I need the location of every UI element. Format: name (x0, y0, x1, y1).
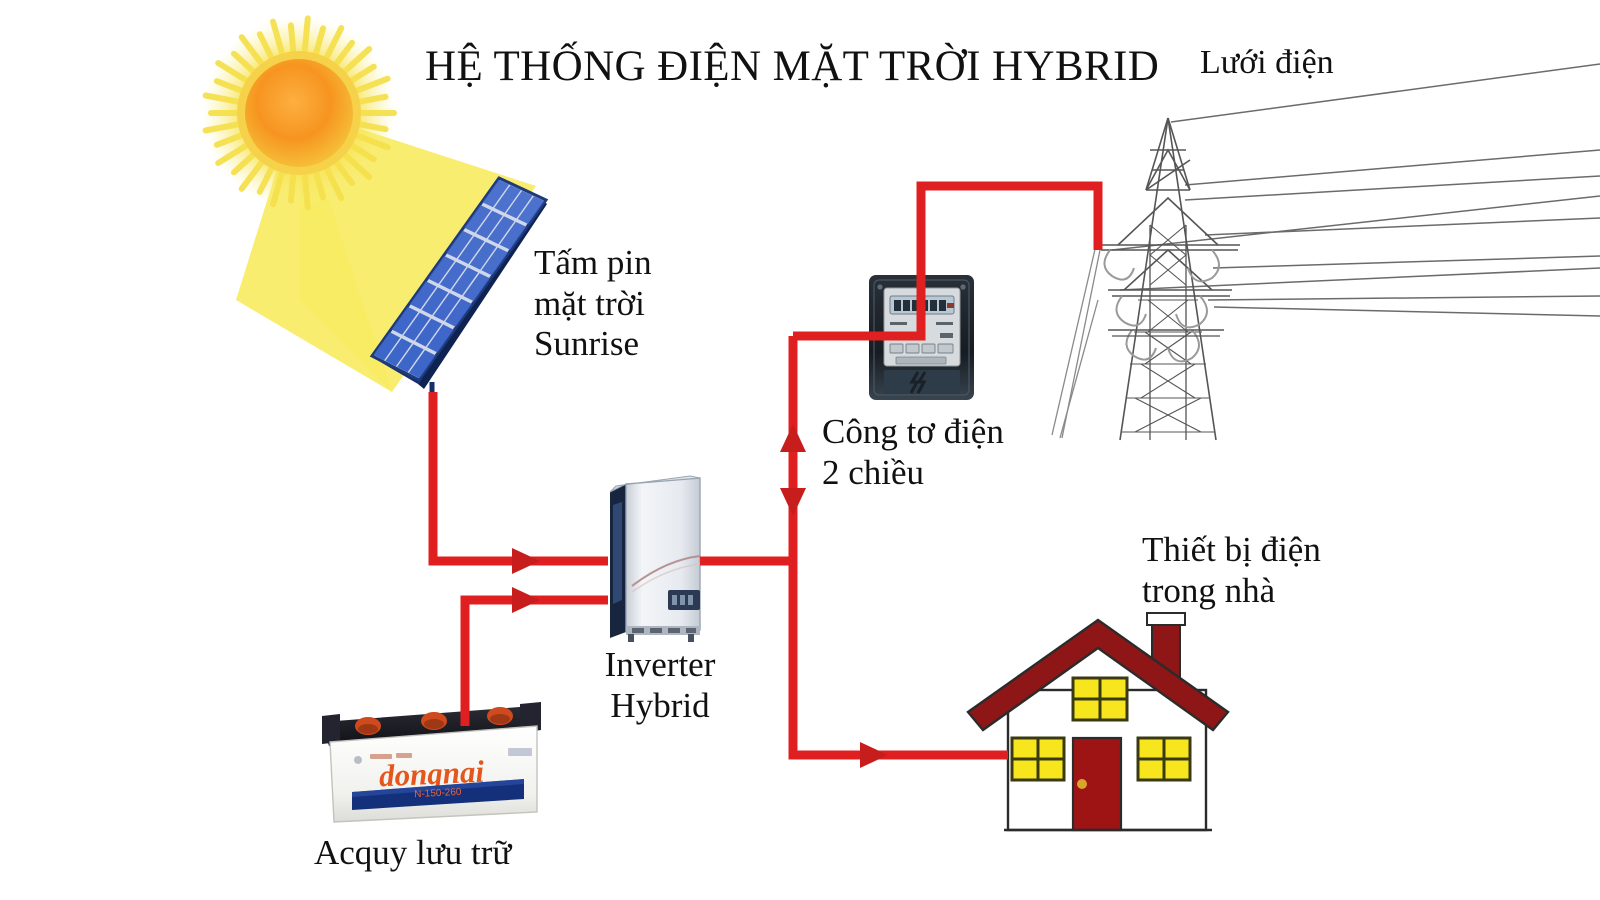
label-solar-panel: Tấm pin mặt trời Sunrise (534, 243, 652, 365)
wire-junction-to-house (793, 561, 1008, 755)
wire-meter-to-grid (921, 186, 1098, 275)
transmission-tower (1052, 64, 1600, 440)
label-battery: Acquy lưu trữ (314, 833, 511, 874)
label-inverter: Inverter Hybrid (585, 645, 735, 726)
battery: dongnai N-150-260 (322, 702, 541, 822)
diagram-artwork: dongnai N-150-260 (0, 0, 1600, 900)
sun-icon (203, 17, 395, 209)
diagram-canvas: dongnai N-150-260 (0, 0, 1600, 900)
diagram-title: HỆ THỐNG ĐIỆN MẶT TRỜI HYBRID (425, 42, 1159, 92)
label-grid: Lưới điện (1200, 43, 1334, 82)
house (968, 613, 1228, 830)
wire-panel-to-inverter (433, 392, 608, 561)
label-meter: Công tơ điện 2 chiều (822, 412, 1004, 493)
label-house: Thiết bị điện trong nhà (1142, 530, 1321, 611)
inverter (610, 476, 700, 642)
